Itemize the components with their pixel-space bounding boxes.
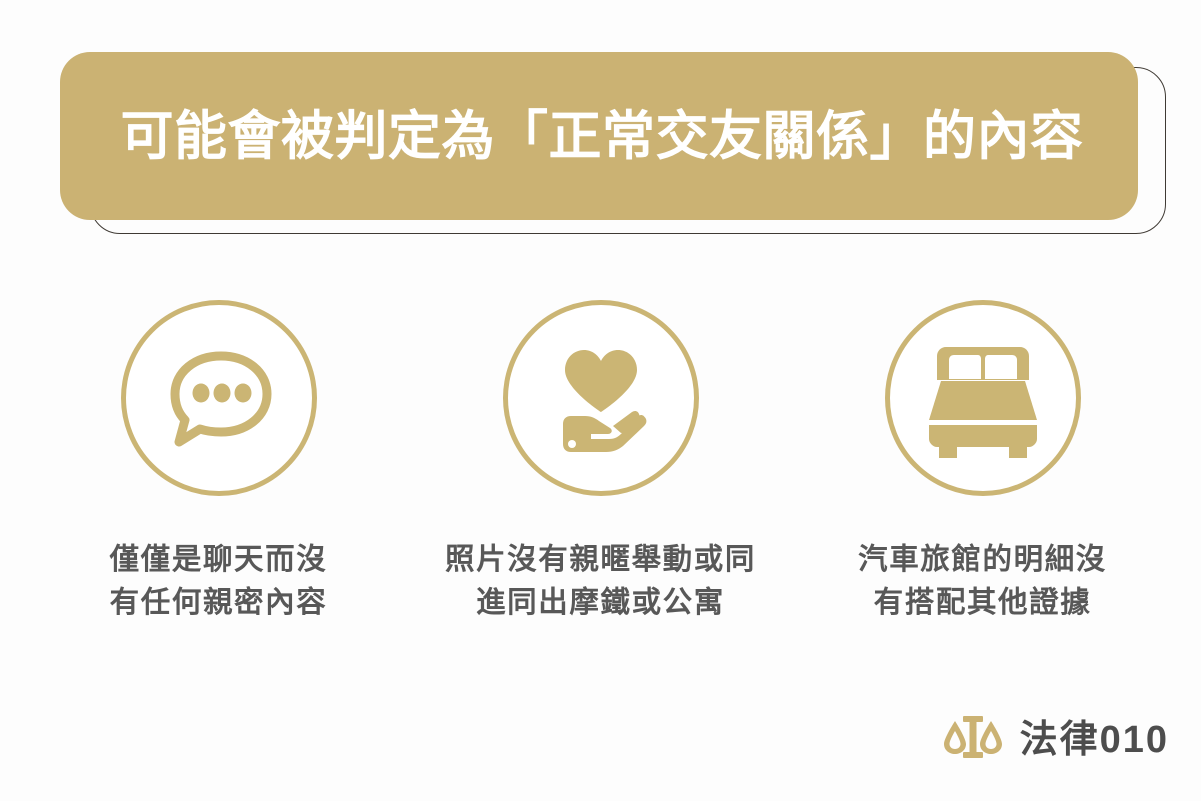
double-bed-icon: [919, 338, 1047, 458]
scales-of-justice-icon: [942, 710, 1004, 769]
icon-circle-affection: [503, 300, 699, 496]
brand-logo-text: 法律010: [1020, 721, 1169, 759]
items-row: 僅僅是聊天而沒 有任何親密內容: [0, 300, 1201, 625]
feature-item-affection: 照片沒有親暱舉動或同 進同出摩鐵或公寓: [410, 300, 792, 625]
header-banner: 可能會被判定為「正常交友關係」的內容: [60, 52, 1168, 236]
infographic-canvas: 可能會被判定為「正常交友關係」的內容: [0, 0, 1201, 801]
feature-item-motel: 汽車旅館的明細沒 有搭配其他證據: [792, 300, 1174, 625]
feature-caption-chat: 僅僅是聊天而沒 有任何親密內容: [110, 538, 328, 625]
chat-bubble-icon: [159, 338, 279, 458]
icon-circle-chat: [121, 300, 317, 496]
feature-caption-affection: 照片沒有親暱舉動或同 進同出摩鐵或公寓: [445, 538, 756, 625]
brand-logo: 法律010: [942, 710, 1169, 769]
feature-item-chat: 僅僅是聊天而沒 有任何親密內容: [28, 300, 410, 625]
page-title: 可能會被判定為「正常交友關係」的內容: [60, 52, 1138, 220]
icon-circle-motel: [885, 300, 1081, 496]
heart-in-hand-icon: [539, 336, 663, 460]
feature-caption-motel: 汽車旅館的明細沒 有搭配其他證據: [858, 538, 1107, 625]
